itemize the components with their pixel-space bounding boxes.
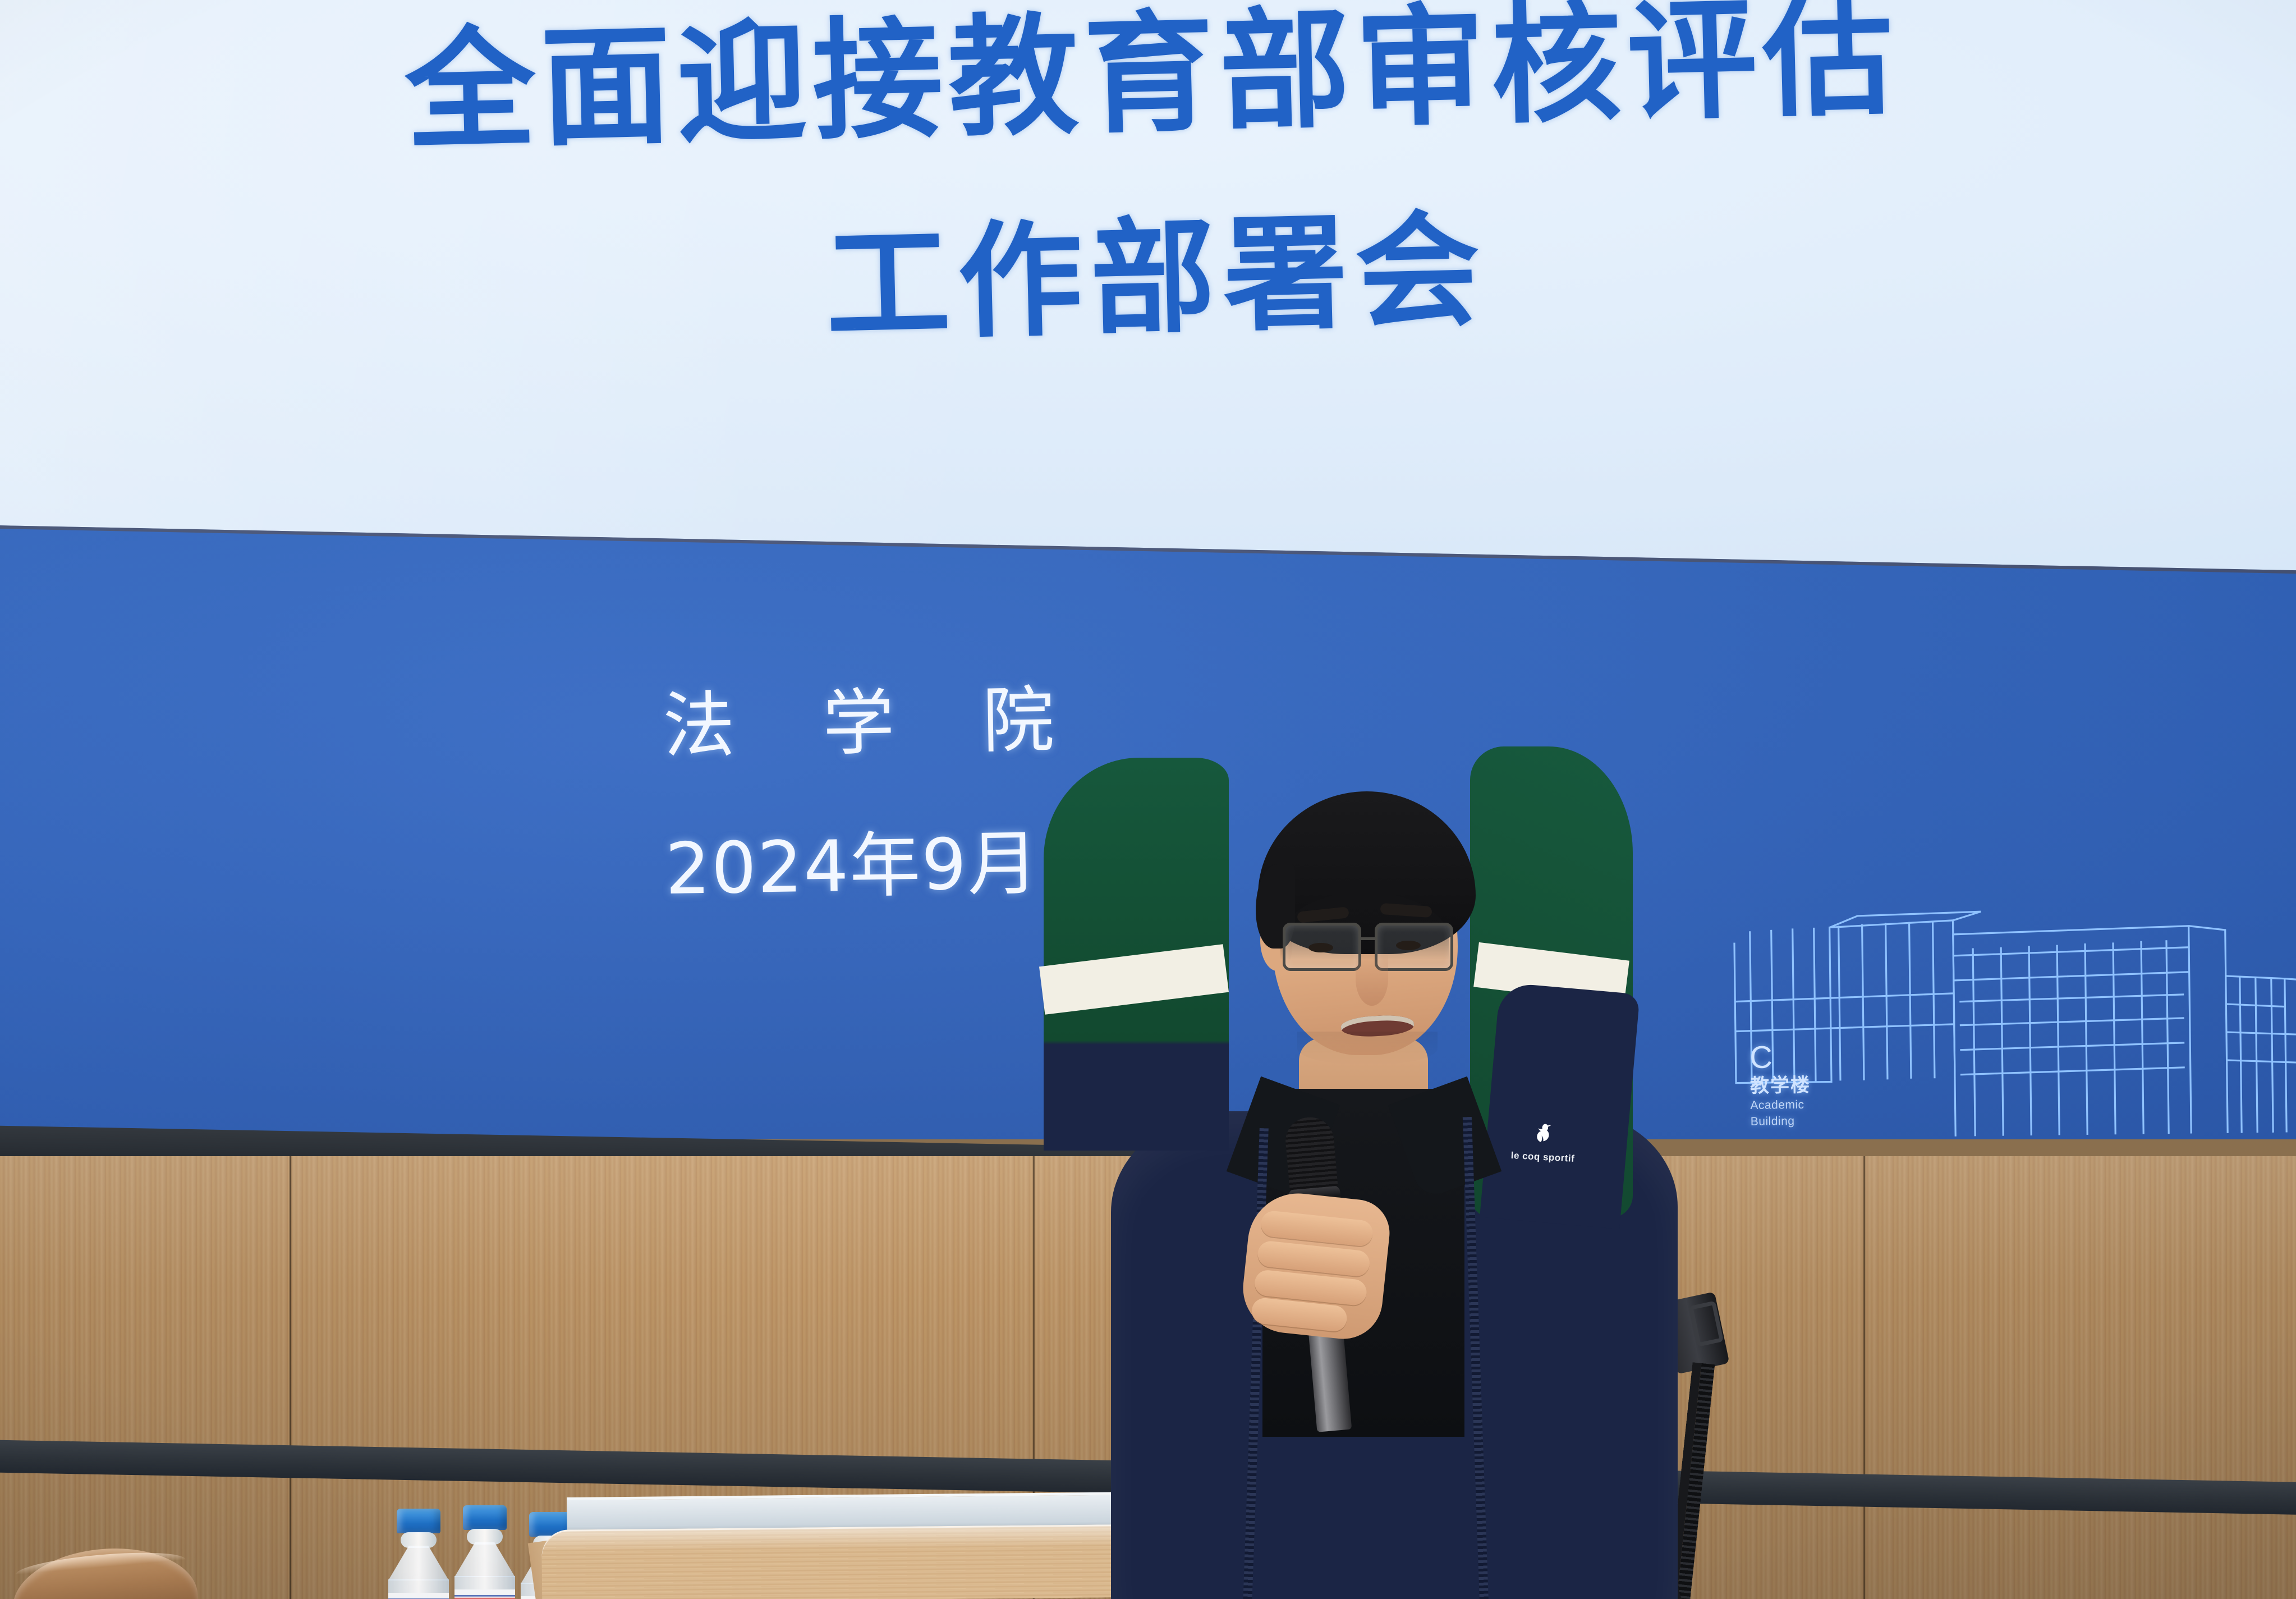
speaker-person: le coq sportif (1044, 724, 1784, 1599)
bottle-cap (397, 1509, 440, 1533)
speaker-eye-left (1308, 943, 1333, 952)
speaker-chin (1297, 1032, 1438, 1065)
wood-panel-seam (1863, 1156, 1866, 1599)
speaker-eye-right (1396, 941, 1421, 950)
glasses-bridge (1361, 937, 1376, 940)
slide-title-line-1: 全面迎接教育部审核评估 (0, 0, 2296, 174)
slide-title-block: 全面迎接教育部审核评估 工作部署会 (0, 0, 2296, 387)
water-bottle (453, 1505, 516, 1599)
bottle-neck (467, 1529, 503, 1545)
photo-scene: 全面迎接教育部审核评估 工作部署会 法 学 院 2024年9月 (0, 0, 2296, 1599)
microphone-grille (1284, 1115, 1338, 1192)
bottle-shoulder (454, 1542, 515, 1577)
speaker-hand (1239, 1189, 1393, 1343)
wood-panel-seam (289, 1156, 292, 1599)
bottle-label (454, 1589, 515, 1599)
bottle-label (388, 1593, 449, 1599)
bottle-shoulder (388, 1546, 449, 1580)
bottle-cap (463, 1505, 507, 1530)
jacket-navy-right-panel (1480, 982, 1640, 1229)
water-bottle (387, 1509, 450, 1599)
rooster-icon (1528, 1120, 1559, 1151)
speaker-nose (1356, 952, 1388, 1006)
jacket-brand-logo: le coq sportif (1506, 1119, 1581, 1165)
bottle-neck (401, 1532, 437, 1548)
